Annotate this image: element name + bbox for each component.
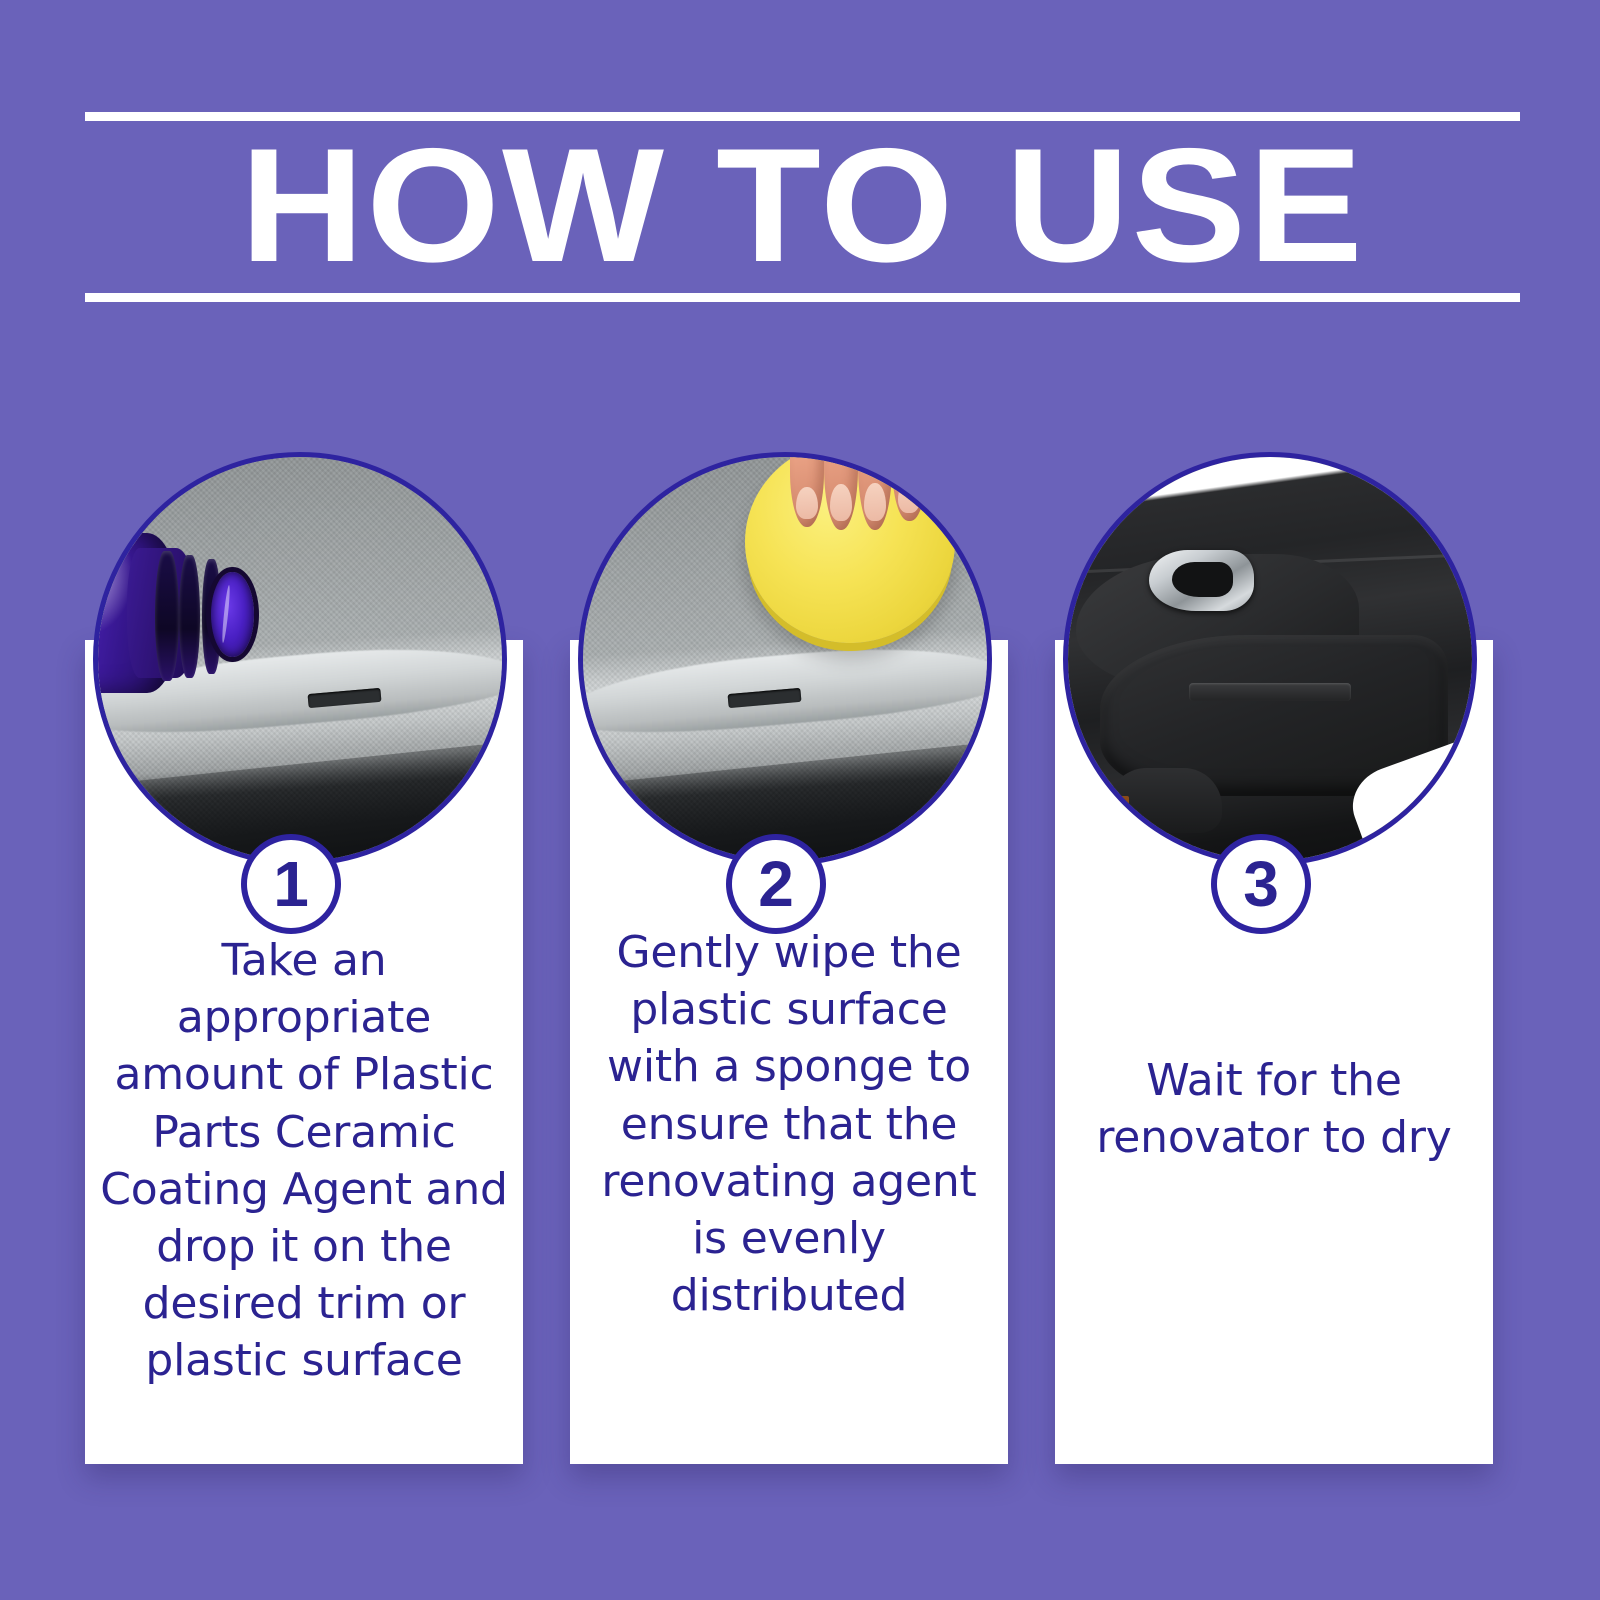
- step-text-1: Take an appropriate amount of Plastic Pa…: [94, 932, 514, 1390]
- step-image-2-inner: [583, 457, 987, 861]
- bottle-icon: [98, 522, 268, 708]
- bottle-mouth: [211, 572, 253, 657]
- sponge-icon: [745, 457, 955, 643]
- step-text-3: Wait for the renovator to dry: [1064, 1052, 1484, 1166]
- header-rule-bottom: [85, 293, 1520, 302]
- step-number-badge-3: 3: [1211, 834, 1311, 934]
- step-image-1-inner: [98, 457, 502, 861]
- door-handle-icon: [1149, 550, 1254, 611]
- page-title: HOW TO USE: [42, 118, 1563, 293]
- steps-container: 1 2 3 Take an appropriate amount of Plas…: [85, 452, 1521, 1464]
- bottle-thread-ring-1: [155, 551, 178, 681]
- bottle-thread-ring-2: [179, 555, 200, 678]
- fingernail: [898, 480, 920, 513]
- finger: [824, 457, 858, 530]
- bottle-mouth-highlight: [221, 585, 231, 643]
- infographic-page: HOW TO USE: [0, 0, 1600, 1600]
- hand-icon: [787, 457, 942, 530]
- fingernail: [830, 484, 852, 521]
- step-number-badge-1: 1: [241, 834, 341, 934]
- header: HOW TO USE: [85, 112, 1520, 302]
- amber-reflector: [1116, 796, 1128, 816]
- finger: [858, 457, 892, 530]
- fingernail: [796, 487, 818, 520]
- step-image-2: [578, 452, 992, 866]
- step-text-2: Gently wipe the plastic surface with a s…: [579, 924, 999, 1324]
- window-switch: [1189, 683, 1351, 701]
- finger: [892, 457, 926, 521]
- step-image-1: [93, 452, 507, 866]
- fingernail: [864, 483, 886, 521]
- door-handle-recess: [1172, 562, 1233, 597]
- step-number-badge-2: 2: [726, 834, 826, 934]
- step-image-3-inner: [1068, 457, 1472, 861]
- step-image-3: [1063, 452, 1477, 866]
- finger: [790, 457, 824, 527]
